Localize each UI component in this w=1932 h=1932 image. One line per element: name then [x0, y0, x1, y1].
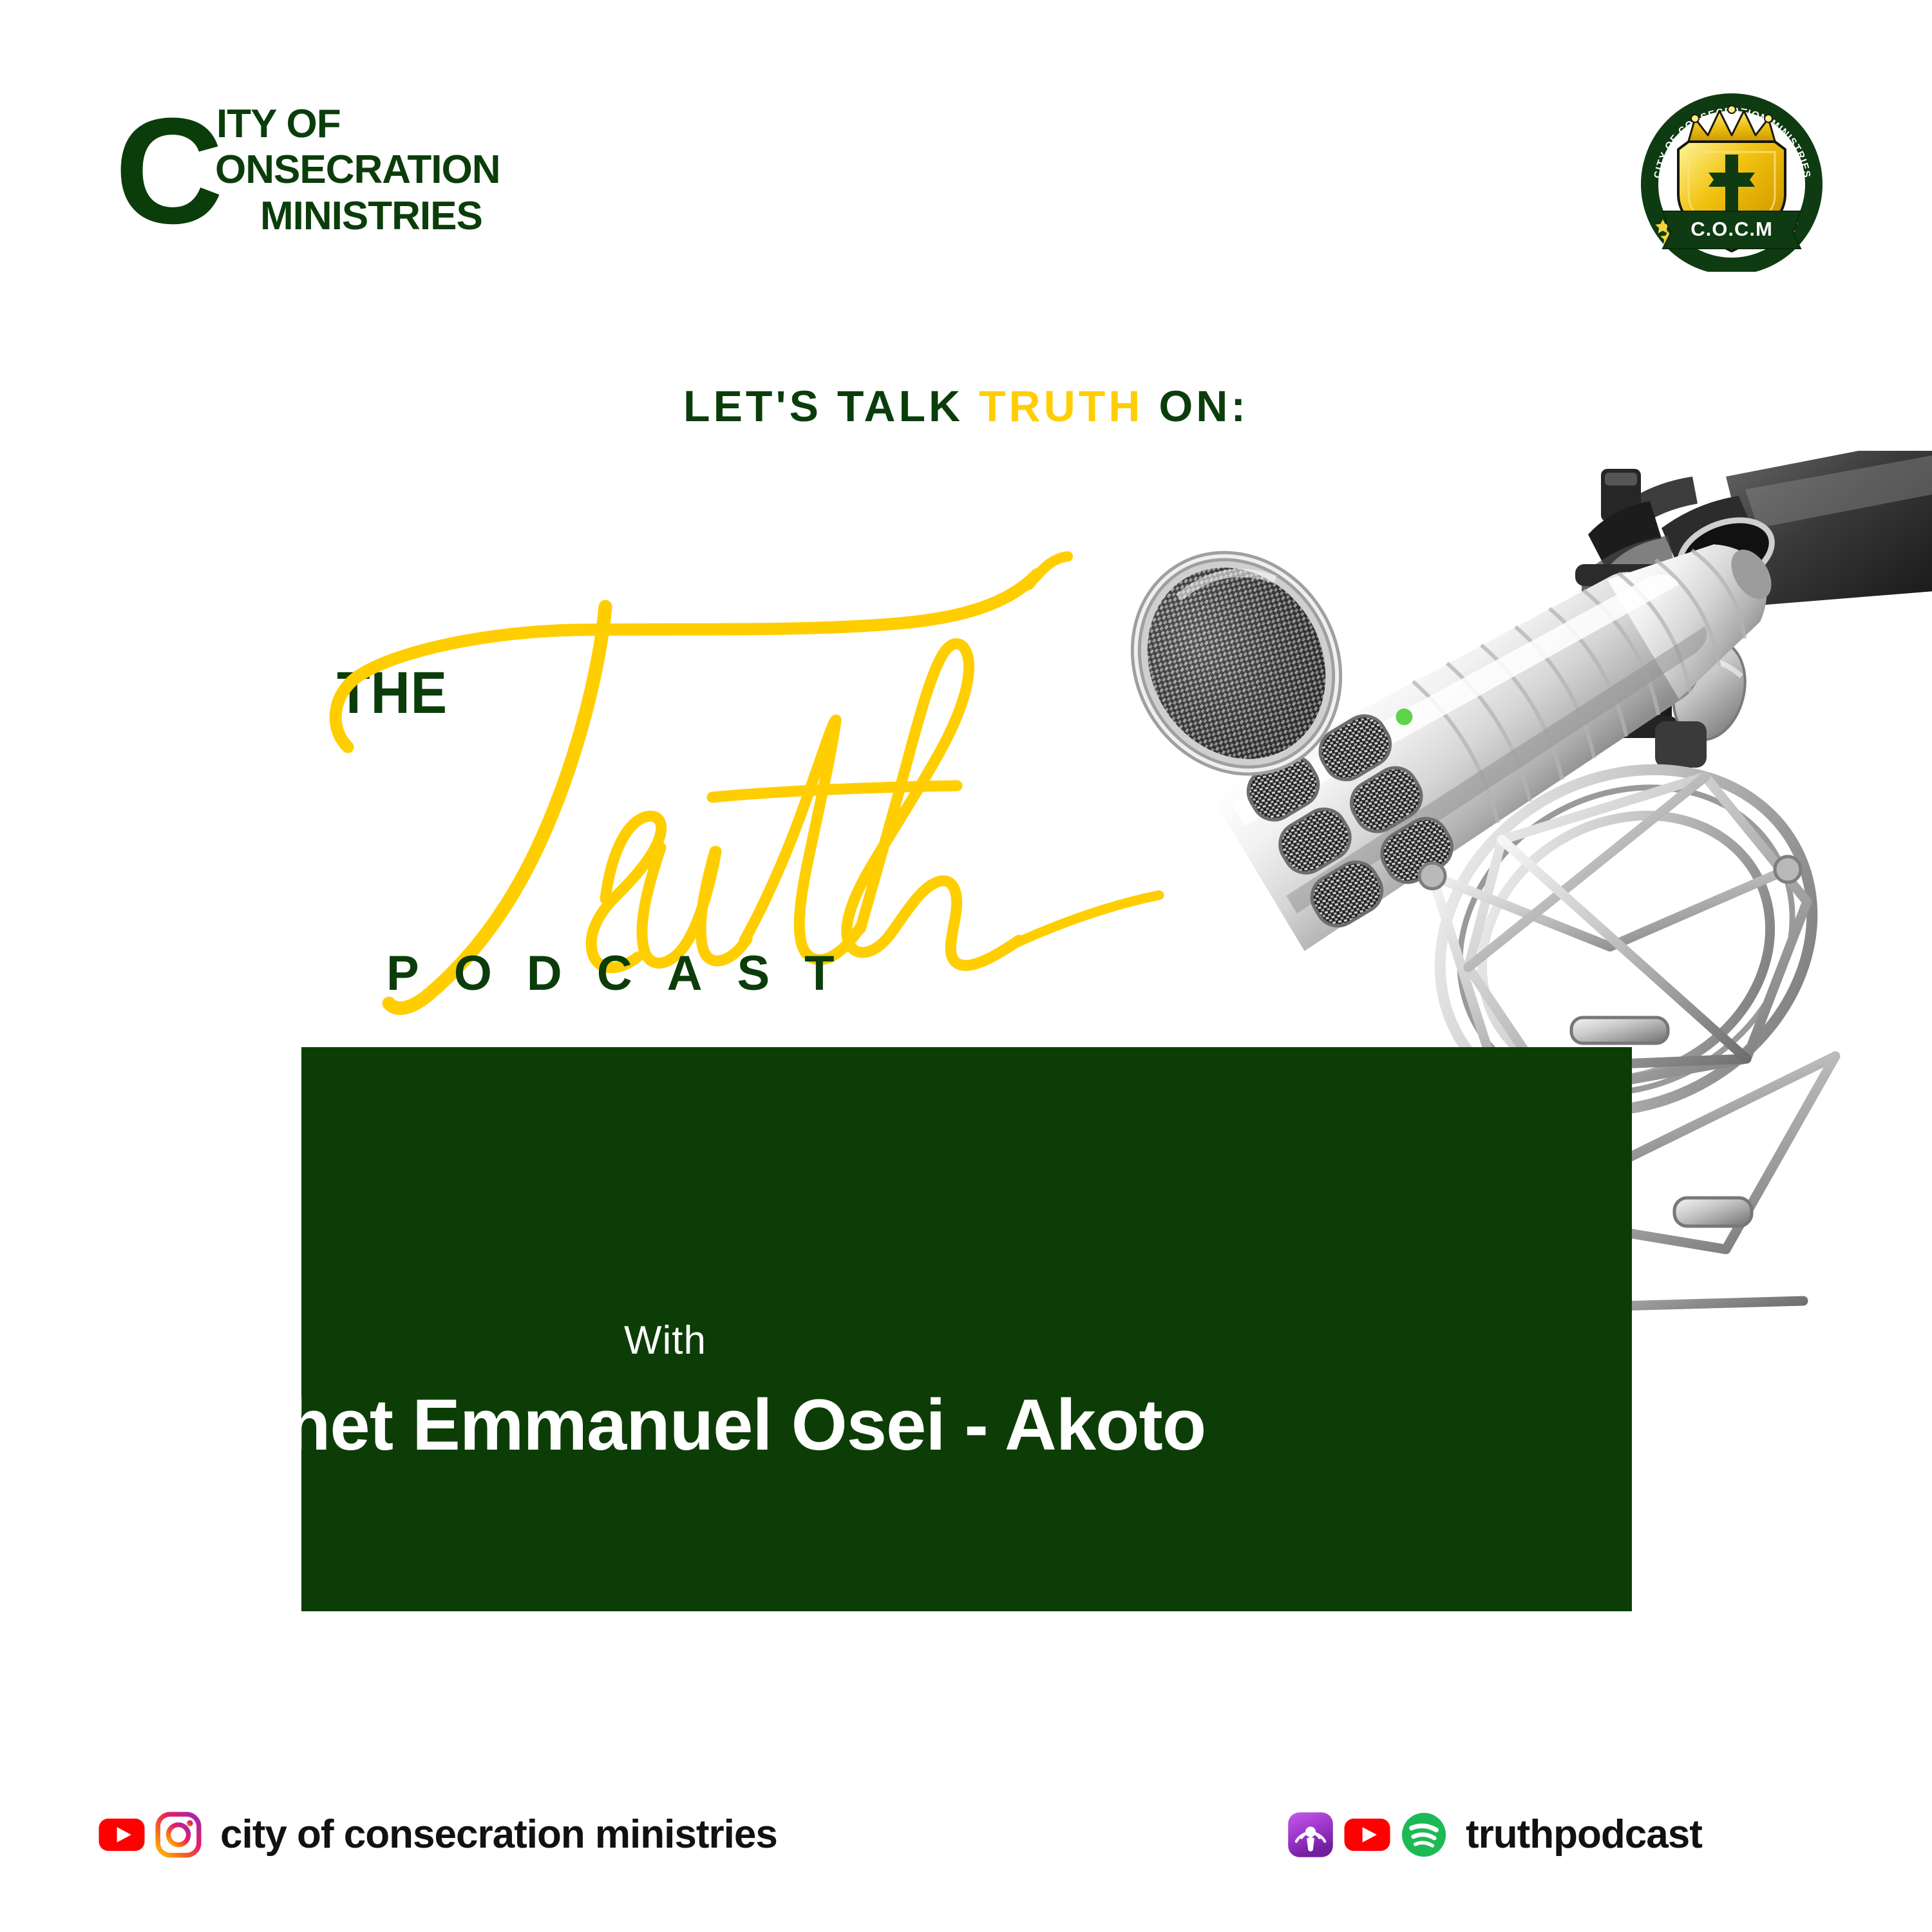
- logo-line-2: ONSECRATION: [215, 147, 500, 193]
- seal-banner-text: C.O.C.M: [1690, 218, 1773, 240]
- youtube-icon[interactable]: [98, 1811, 146, 1859]
- tagline-highlight: TRUTH: [979, 382, 1143, 431]
- logo-text-lines: ITY OF ONSECRATION MINISTRIES: [216, 102, 500, 240]
- footer-social-right: truthpodcast: [1287, 1811, 1702, 1859]
- shield-crown-cross-seal-icon: CITY OF CONSECRATION MINISTRIES C.O.C.M: [1641, 90, 1823, 272]
- logo-big-c-letter: C: [115, 95, 220, 246]
- instagram-icon[interactable]: [155, 1811, 202, 1859]
- footer-handle-right: truthpodcast: [1466, 1811, 1702, 1859]
- host-name: Prophet Emmanuel Osei - Akoto: [0, 1383, 1331, 1466]
- tagline-part-2: ON:: [1143, 382, 1249, 431]
- tagline-part-1: LET'S TALK: [683, 382, 979, 431]
- with-label: With: [0, 1318, 1331, 1363]
- podcast-promo-poster: C ITY OF ONSECRATION MINISTRIES: [0, 0, 1932, 1932]
- logo-line-1: ITY OF: [216, 102, 500, 147]
- apple-podcasts-icon[interactable]: [1287, 1811, 1334, 1859]
- youtube-icon[interactable]: [1343, 1811, 1391, 1859]
- brand-wordmark-logo: C ITY OF ONSECRATION MINISTRIES: [115, 90, 514, 238]
- tagline: LET'S TALK TRUTH ON:: [0, 381, 1932, 431]
- logo-line-3: MINISTRIES: [260, 193, 500, 240]
- ministry-seal-badge: CITY OF CONSECRATION MINISTRIES C.O.C.M: [1641, 90, 1823, 272]
- title-podcast: PODCAST: [386, 948, 869, 999]
- footer-handle-left: city of consecration ministries: [220, 1811, 777, 1859]
- spotify-icon[interactable]: [1400, 1811, 1448, 1859]
- footer-social-left: city of consecration ministries: [98, 1811, 777, 1859]
